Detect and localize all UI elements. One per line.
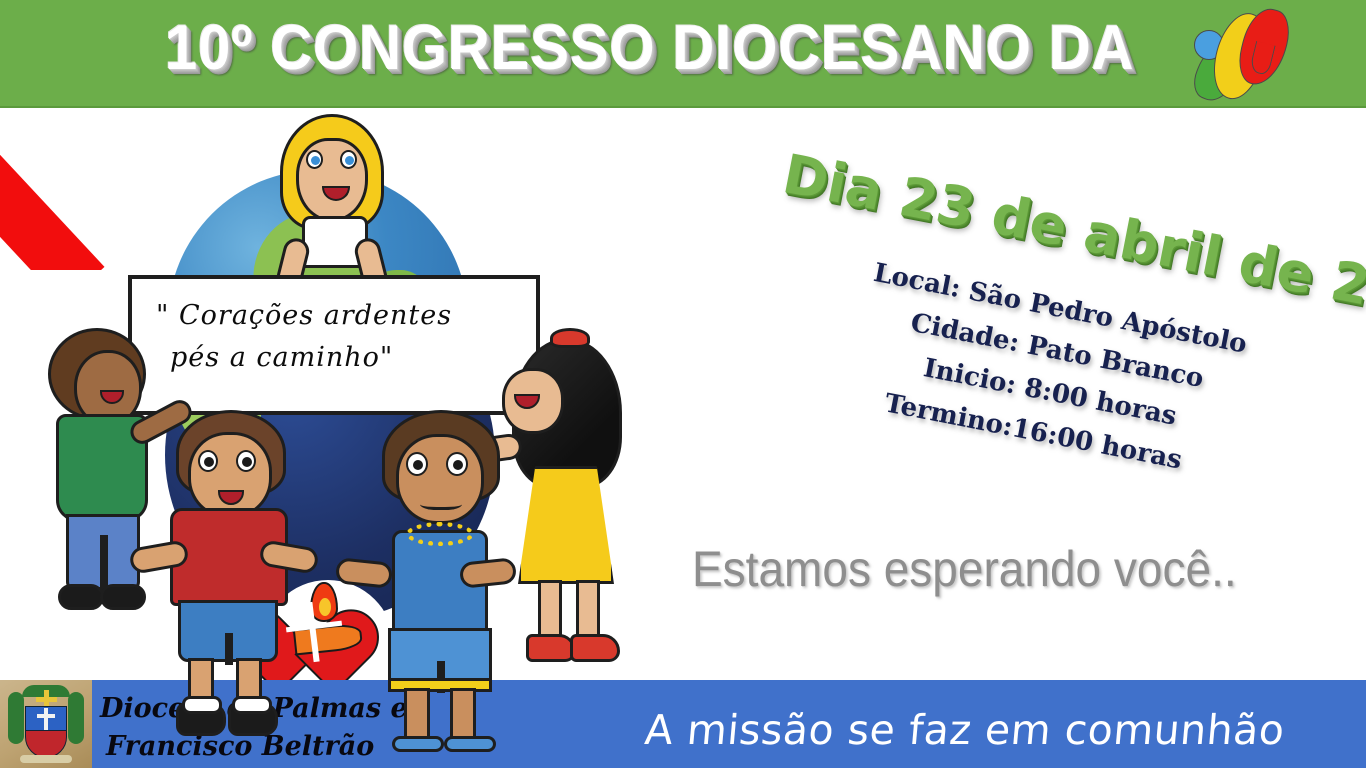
shoe (58, 584, 104, 610)
face (396, 434, 484, 524)
eye (340, 150, 357, 169)
diocese-coat-of-arms (0, 680, 92, 768)
arm (459, 557, 517, 589)
leg (404, 688, 430, 740)
sock (232, 696, 272, 714)
leg (450, 688, 476, 740)
sock (182, 696, 222, 714)
shorts (178, 600, 278, 662)
call-to-action-text: Estamos esperando você.. (692, 540, 1237, 598)
necklace (406, 522, 474, 546)
tassel (8, 692, 24, 744)
sandal (444, 736, 496, 752)
motto-scroll (20, 755, 72, 763)
iam-logo (1194, 4, 1294, 104)
eye (306, 150, 323, 169)
legs (66, 514, 140, 590)
event-poster: 10º CONGRESSO DIOCESANO DA (0, 0, 1366, 768)
hair-bow (550, 328, 590, 348)
event-details-list: Local: São Pedro Apóstolo Cidade: Pato B… (846, 252, 1251, 490)
eye (236, 450, 256, 472)
theme-line-1: " Corações ardentes (156, 295, 524, 337)
shield-lower (25, 730, 67, 758)
child-red-shirt (160, 410, 320, 760)
children-globe-illustration: " Corações ardentes pés a caminho" (0, 110, 650, 680)
eye (446, 452, 468, 476)
page-title: 10º CONGRESSO DIOCESANO DA (165, 12, 1134, 84)
shoe (570, 634, 620, 662)
shoe (100, 584, 146, 610)
child-blonde-girl (262, 110, 402, 290)
header-banner: 10º CONGRESSO DIOCESANO DA (0, 0, 1366, 108)
footer-motto: A missão se faz em comunhão (643, 706, 1287, 754)
face (188, 432, 272, 518)
tassel (68, 692, 84, 744)
sandal (392, 736, 444, 752)
shield-cross-vertical (44, 708, 48, 730)
mouth (420, 496, 462, 510)
leg (576, 580, 600, 642)
processional-cross-arm (36, 697, 57, 702)
eye (198, 450, 218, 472)
face (296, 138, 368, 222)
shield-cross-horizontal (37, 714, 55, 718)
theme-line-2: pés a caminho" (156, 337, 524, 379)
eye (406, 452, 428, 476)
child-blue-tank (372, 410, 542, 760)
